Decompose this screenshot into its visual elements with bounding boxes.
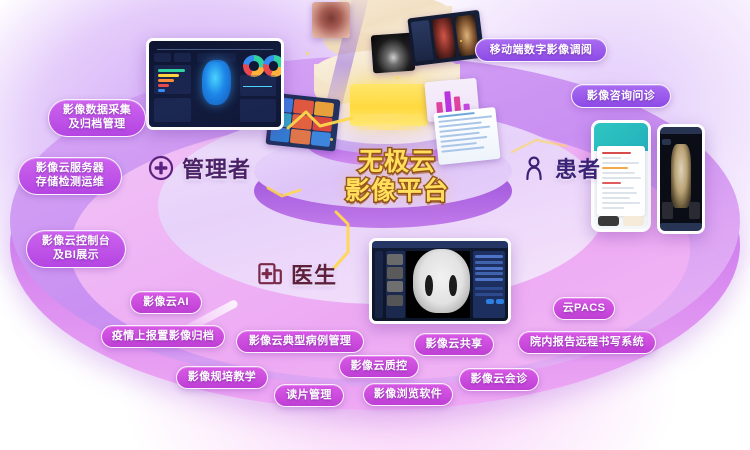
sparkle bbox=[330, 138, 333, 141]
pill-training-education[interactable]: 影像规培教学 bbox=[176, 366, 268, 389]
pill-image-cloud-server[interactable]: 影像云服务器 存储检测运维 bbox=[18, 157, 122, 195]
infographic-canvas: 管理者 患者 医生 无极云 影像平台 影像数据采集 及归档管理 bbox=[0, 0, 750, 450]
pill-line-1: 影像云控制台 bbox=[42, 235, 110, 249]
platform-title-line1: 无极云 bbox=[358, 148, 436, 176]
circle-plus-icon bbox=[148, 155, 174, 181]
pill-typical-case-management[interactable]: 影像云典型病例管理 bbox=[236, 330, 364, 353]
tower-yellow-strip-1 bbox=[352, 114, 424, 121]
pill-line-1: 影像浏览软件 bbox=[374, 388, 442, 401]
pill-line-1: 影像云质控 bbox=[351, 360, 408, 373]
pill-cloud-pacs[interactable]: 云PACS bbox=[553, 297, 615, 320]
report-card bbox=[597, 146, 645, 216]
pill-line-2: 及BI展示 bbox=[53, 249, 99, 263]
report-action-left[interactable] bbox=[598, 216, 619, 226]
pill-image-consultation[interactable]: 影像咨询问诊 bbox=[571, 84, 671, 108]
person-icon bbox=[521, 155, 547, 181]
pill-line-1: 影像云AI bbox=[143, 296, 189, 309]
pill-image-browsing-software[interactable]: 影像浏览软件 bbox=[363, 383, 453, 406]
pill-line-1: 影像咨询问诊 bbox=[587, 90, 655, 103]
pill-line-1: 影像云服务器 bbox=[36, 162, 104, 176]
pill-epidemic-report-archive[interactable]: 疫情上报置影像归档 bbox=[101, 325, 225, 348]
clipboard-plus-icon bbox=[257, 261, 283, 287]
skeleton-viewer-phone[interactable] bbox=[657, 124, 705, 234]
pill-line-1: 院内报告远程书写系统 bbox=[530, 336, 644, 349]
ct-scan-image bbox=[413, 249, 470, 313]
pill-remote-report-writing[interactable]: 院内报告远程书写系统 bbox=[518, 331, 656, 354]
pill-image-data-collection[interactable]: 影像数据采集 及归档管理 bbox=[48, 99, 146, 137]
bi-dashboard-monitor[interactable] bbox=[146, 38, 284, 130]
platform-title: 无极云 影像平台 bbox=[327, 148, 467, 206]
role-patient[interactable]: 患者 bbox=[521, 152, 601, 184]
pill-line-1: 影像数据采集 bbox=[63, 104, 131, 118]
pacs-ct-viewer[interactable] bbox=[369, 238, 511, 324]
pill-line-1: 疫情上报置影像归档 bbox=[112, 330, 215, 343]
ultrasound-thumbnail bbox=[371, 33, 416, 74]
sparkle bbox=[396, 76, 399, 79]
pill-line-1: 移动端数字影像调阅 bbox=[490, 44, 593, 57]
pill-image-cloud-qc[interactable]: 影像云质控 bbox=[339, 355, 419, 378]
pill-line-1: 影像云典型病例管理 bbox=[249, 335, 352, 348]
pill-image-cloud-sharing[interactable]: 影像云共享 bbox=[414, 333, 494, 356]
role-admin[interactable]: 管理者 bbox=[148, 152, 251, 184]
role-patient-label: 患者 bbox=[555, 152, 601, 184]
tower-yellow-strip-2 bbox=[354, 124, 420, 130]
sparkle bbox=[460, 40, 462, 42]
pill-image-cloud-consultation[interactable]: 影像云会诊 bbox=[459, 368, 539, 391]
sparkle bbox=[306, 52, 309, 55]
pill-image-cloud-console-bi[interactable]: 影像云控制台 及BI展示 bbox=[26, 230, 126, 268]
pill-mobile-image-access[interactable]: 移动端数字影像调阅 bbox=[475, 38, 607, 62]
role-admin-label: 管理者 bbox=[182, 152, 251, 184]
pill-film-reading-management[interactable]: 读片管理 bbox=[274, 384, 344, 407]
pill-image-cloud-ai[interactable]: 影像云AI bbox=[130, 291, 202, 314]
pill-line-1: 影像云会诊 bbox=[471, 373, 528, 386]
report-action-right[interactable] bbox=[623, 216, 644, 226]
endoscopy-thumbnail bbox=[312, 2, 350, 38]
skeleton-3d-render bbox=[671, 144, 691, 208]
pill-line-1: 云PACS bbox=[563, 302, 606, 315]
pill-line-1: 影像规培教学 bbox=[188, 371, 256, 384]
pill-line-1: 影像云共享 bbox=[426, 338, 483, 351]
role-doctor-label: 医生 bbox=[291, 258, 337, 290]
pill-line-2: 及归档管理 bbox=[69, 118, 126, 132]
radiology-series-thumbnail bbox=[407, 10, 484, 66]
pill-line-1: 读片管理 bbox=[286, 389, 332, 402]
platform-title-line2: 影像平台 bbox=[327, 177, 467, 206]
role-doctor[interactable]: 医生 bbox=[257, 258, 337, 290]
pill-line-2: 存储检测运维 bbox=[36, 176, 104, 190]
